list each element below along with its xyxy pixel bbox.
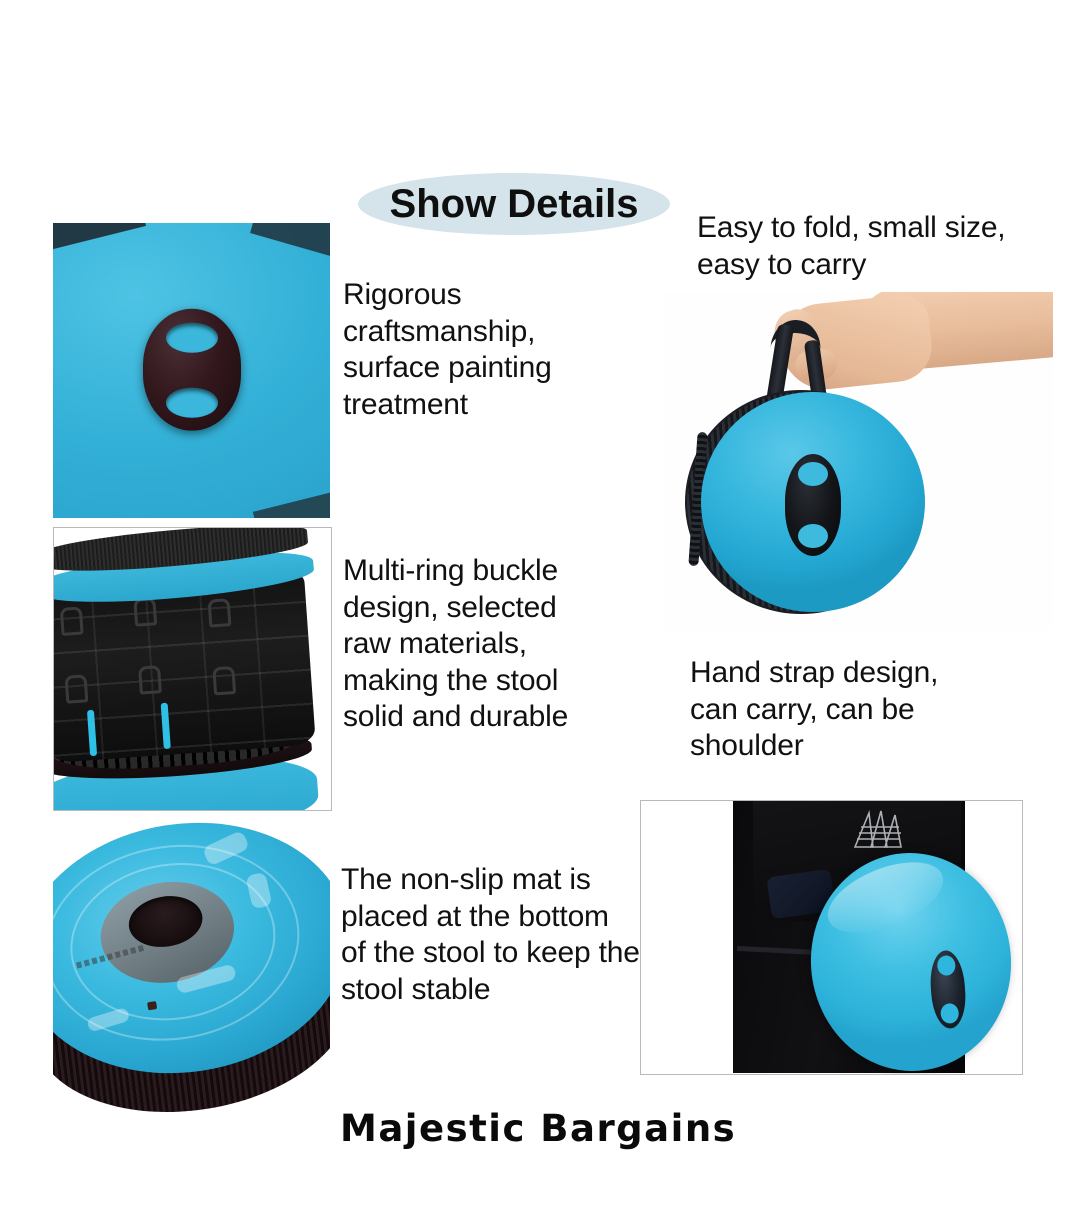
handle-hole-top <box>166 322 218 352</box>
page-title: Show Details <box>358 173 670 235</box>
oval-handle-icon <box>785 454 841 556</box>
photo-hand-carry <box>663 292 1053 630</box>
handle-hole-bottom <box>166 387 218 417</box>
handle-hole-bottom <box>798 524 828 548</box>
infographic-page: Show Details <box>0 0 1080 1221</box>
caption-rigorous-craftsmanship: Rigorous craftsmanship, surface painting… <box>343 277 603 423</box>
apparel-logo-icon <box>849 809 905 851</box>
title-text: Show Details <box>358 173 670 235</box>
photo-bottom-mat <box>53 818 330 1113</box>
buckle-icon <box>64 674 88 703</box>
screw-icon <box>147 1001 157 1010</box>
photo-seat-top <box>53 223 330 518</box>
buckle-icon <box>212 666 236 695</box>
handle-hole-bottom <box>940 1003 959 1024</box>
caption-hand-strap-design: Hand strap design, can carry, can be sho… <box>690 655 990 765</box>
buckle-icon <box>208 598 232 627</box>
oval-handle-icon <box>143 308 241 430</box>
photo-buckle-mechanism <box>53 527 332 811</box>
caption-easy-to-fold: Easy to fold, small size, easy to carry <box>697 210 1027 283</box>
caption-multi-ring-buckle: Multi-ring buckle design, selected raw m… <box>343 553 611 736</box>
buckle-icon <box>60 606 84 635</box>
handle-hole-top <box>798 462 828 486</box>
oval-handle-icon <box>928 949 967 1029</box>
buckle-icon <box>133 597 157 626</box>
buckle-icon <box>138 665 162 694</box>
brand-name: Majestic Bargains <box>340 1107 736 1150</box>
photo-shoulder-carry <box>640 800 1023 1075</box>
caption-non-slip-mat: The non-slip mat is placed at the bottom… <box>341 862 641 1008</box>
handle-hole-top <box>937 955 956 976</box>
